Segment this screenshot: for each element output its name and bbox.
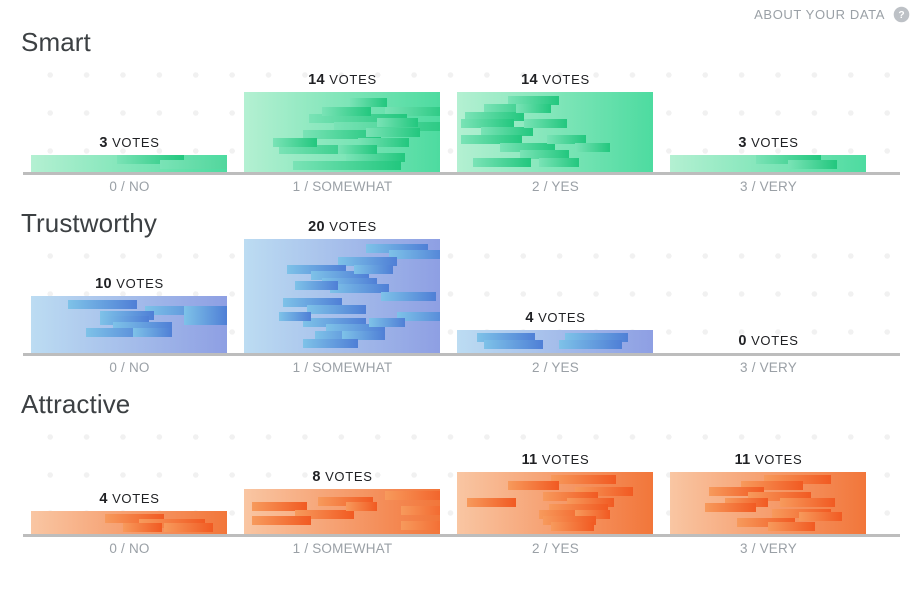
- vote-tick: [401, 506, 440, 515]
- axis-baseline: [23, 172, 900, 175]
- vote-bar[interactable]: [670, 472, 866, 534]
- vote-tick: [133, 328, 172, 337]
- axis-tick-label: 1 / SOMEWHAT: [236, 179, 449, 194]
- vote-bar[interactable]: [244, 92, 440, 172]
- bar-wrapper: [31, 296, 227, 353]
- vote-tick: [307, 305, 366, 314]
- bar-wrapper: [31, 155, 227, 172]
- bar-column[interactable]: 14 VOTES1 / SOMEWHAT: [236, 58, 449, 172]
- vote-tick: [252, 502, 307, 511]
- vote-tick: [788, 160, 837, 169]
- vote-count-label: 11 VOTES: [662, 452, 875, 468]
- vote-tick: [322, 107, 371, 116]
- vote-tick: [369, 318, 404, 327]
- vote-count-label: 0 VOTES: [662, 333, 875, 349]
- vote-tick: [381, 292, 436, 301]
- vote-tick: [467, 498, 516, 507]
- vote-bar[interactable]: [457, 330, 653, 353]
- vote-charts: Smart3 VOTES0 / NO14 VOTES1 / SOMEWHAT14…: [0, 24, 922, 567]
- vote-bar[interactable]: [244, 489, 440, 534]
- vote-tick: [551, 522, 594, 531]
- vote-tick: [516, 104, 551, 113]
- axis-tick-label: 2 / YES: [449, 179, 662, 194]
- vote-tick: [385, 491, 440, 500]
- vote-tick: [539, 158, 578, 167]
- vote-tick: [377, 118, 418, 127]
- vote-tick: [160, 160, 227, 169]
- vote-tick: [508, 481, 559, 490]
- bar-wrapper: [457, 92, 653, 172]
- bar-column[interactable]: 3 VOTES3 / VERY: [662, 58, 875, 172]
- bar-column[interactable]: 11 VOTES3 / VERY: [662, 420, 875, 534]
- vote-tick: [295, 281, 338, 290]
- axis-baseline: [23, 534, 900, 537]
- vote-tick: [705, 503, 756, 512]
- vote-count-label: 11 VOTES: [449, 452, 662, 468]
- bar-columns: 4 VOTES0 / NO8 VOTES1 / SOMEWHAT11 VOTES…: [23, 420, 900, 534]
- bar-column[interactable]: 4 VOTES0 / NO: [23, 420, 236, 534]
- axis-tick-label: 0 / NO: [23, 179, 236, 194]
- vote-count-label: 4 VOTES: [23, 491, 236, 507]
- bar-column[interactable]: 8 VOTES1 / SOMEWHAT: [236, 420, 449, 534]
- vote-tick: [799, 512, 842, 521]
- bar-column[interactable]: 10 VOTES0 / NO: [23, 239, 236, 353]
- bar-column[interactable]: 3 VOTES0 / NO: [23, 58, 236, 172]
- vote-tick: [252, 516, 311, 525]
- chart-section-trustworthy: Trustworthy10 VOTES0 / NO20 VOTES1 / SOM…: [0, 205, 922, 386]
- axis-tick-label: 2 / YES: [449, 360, 662, 375]
- vote-bar[interactable]: [457, 472, 653, 534]
- vote-tick: [401, 521, 440, 530]
- about-your-data-label: ABOUT YOUR DATA: [754, 7, 885, 22]
- axis-tick-label: 3 / VERY: [662, 541, 875, 556]
- vote-tick: [123, 523, 162, 532]
- vote-tick: [68, 300, 137, 309]
- bar-wrapper: [670, 155, 866, 172]
- bar-columns: 3 VOTES0 / NO14 VOTES1 / SOMEWHAT14 VOTE…: [23, 58, 900, 172]
- vote-tick: [293, 161, 401, 170]
- vote-bar[interactable]: [31, 296, 227, 353]
- bar-wrapper: [244, 489, 440, 534]
- vote-count-label: 14 VOTES: [449, 72, 662, 88]
- bar-wrapper: [670, 472, 866, 534]
- vote-tick: [559, 340, 622, 349]
- vote-bar[interactable]: [457, 92, 653, 172]
- vote-count-label: 4 VOTES: [449, 310, 662, 326]
- vote-tick: [303, 339, 358, 348]
- plot-area: 10 VOTES0 / NO20 VOTES1 / SOMEWHAT4 VOTE…: [23, 239, 900, 353]
- bar-wrapper: [244, 92, 440, 172]
- vote-count-label: 3 VOTES: [662, 135, 875, 151]
- bar-column[interactable]: 20 VOTES1 / SOMEWHAT: [236, 239, 449, 353]
- bar-columns: 10 VOTES0 / NO20 VOTES1 / SOMEWHAT4 VOTE…: [23, 239, 900, 353]
- bar-wrapper: [457, 472, 653, 534]
- vote-tick: [184, 316, 227, 325]
- axis-tick-label: 1 / SOMEWHAT: [236, 541, 449, 556]
- vote-tick: [354, 265, 393, 274]
- axis-baseline: [23, 353, 900, 356]
- axis-tick-label: 2 / YES: [449, 541, 662, 556]
- axis-tick-label: 0 / NO: [23, 360, 236, 375]
- plot-area: 3 VOTES0 / NO14 VOTES1 / SOMEWHAT14 VOTE…: [23, 58, 900, 172]
- vote-tick: [780, 498, 835, 507]
- vote-count-label: 20 VOTES: [236, 219, 449, 235]
- vote-tick: [366, 128, 421, 137]
- bar-wrapper: [244, 239, 440, 353]
- vote-count-label: 3 VOTES: [23, 135, 236, 151]
- bar-column[interactable]: 11 VOTES2 / YES: [449, 420, 662, 534]
- vote-tick: [575, 143, 610, 152]
- about-your-data-link[interactable]: ABOUT YOUR DATA ?: [754, 6, 910, 23]
- axis-tick-label: 1 / SOMEWHAT: [236, 360, 449, 375]
- vote-tick: [164, 523, 213, 532]
- help-circle-icon[interactable]: ?: [893, 6, 910, 23]
- axis-tick-label: 0 / NO: [23, 541, 236, 556]
- bar-wrapper: [31, 511, 227, 534]
- vote-tick: [473, 158, 532, 167]
- chart-section-smart: Smart3 VOTES0 / NO14 VOTES1 / SOMEWHAT14…: [0, 24, 922, 205]
- bar-column[interactable]: 4 VOTES2 / YES: [449, 239, 662, 353]
- svg-text:?: ?: [898, 10, 904, 21]
- plot-area: 4 VOTES0 / NO8 VOTES1 / SOMEWHAT11 VOTES…: [23, 420, 900, 534]
- vote-tick: [346, 502, 377, 511]
- vote-tick: [768, 522, 815, 531]
- vote-bar[interactable]: [31, 511, 227, 534]
- bar-wrapper: [457, 330, 653, 353]
- chart-section-attractive: Attractive4 VOTES0 / NO8 VOTES1 / SOMEWH…: [0, 386, 922, 567]
- vote-count-label: 10 VOTES: [23, 276, 236, 292]
- vote-tick: [551, 475, 616, 484]
- axis-tick-label: 3 / VERY: [662, 179, 875, 194]
- bar-column[interactable]: 0 VOTES3 / VERY: [662, 239, 875, 353]
- vote-bar[interactable]: [244, 239, 440, 353]
- vote-tick: [338, 145, 377, 154]
- vote-bar[interactable]: [31, 155, 227, 172]
- vote-bar[interactable]: [670, 155, 866, 172]
- vote-tick: [279, 312, 310, 321]
- vote-count-label: 14 VOTES: [236, 72, 449, 88]
- vote-count-label: 8 VOTES: [236, 469, 449, 485]
- axis-tick-label: 3 / VERY: [662, 360, 875, 375]
- vote-tick: [484, 340, 543, 349]
- vote-tick: [273, 138, 316, 147]
- vote-tick: [524, 119, 567, 128]
- bar-column[interactable]: 14 VOTES2 / YES: [449, 58, 662, 172]
